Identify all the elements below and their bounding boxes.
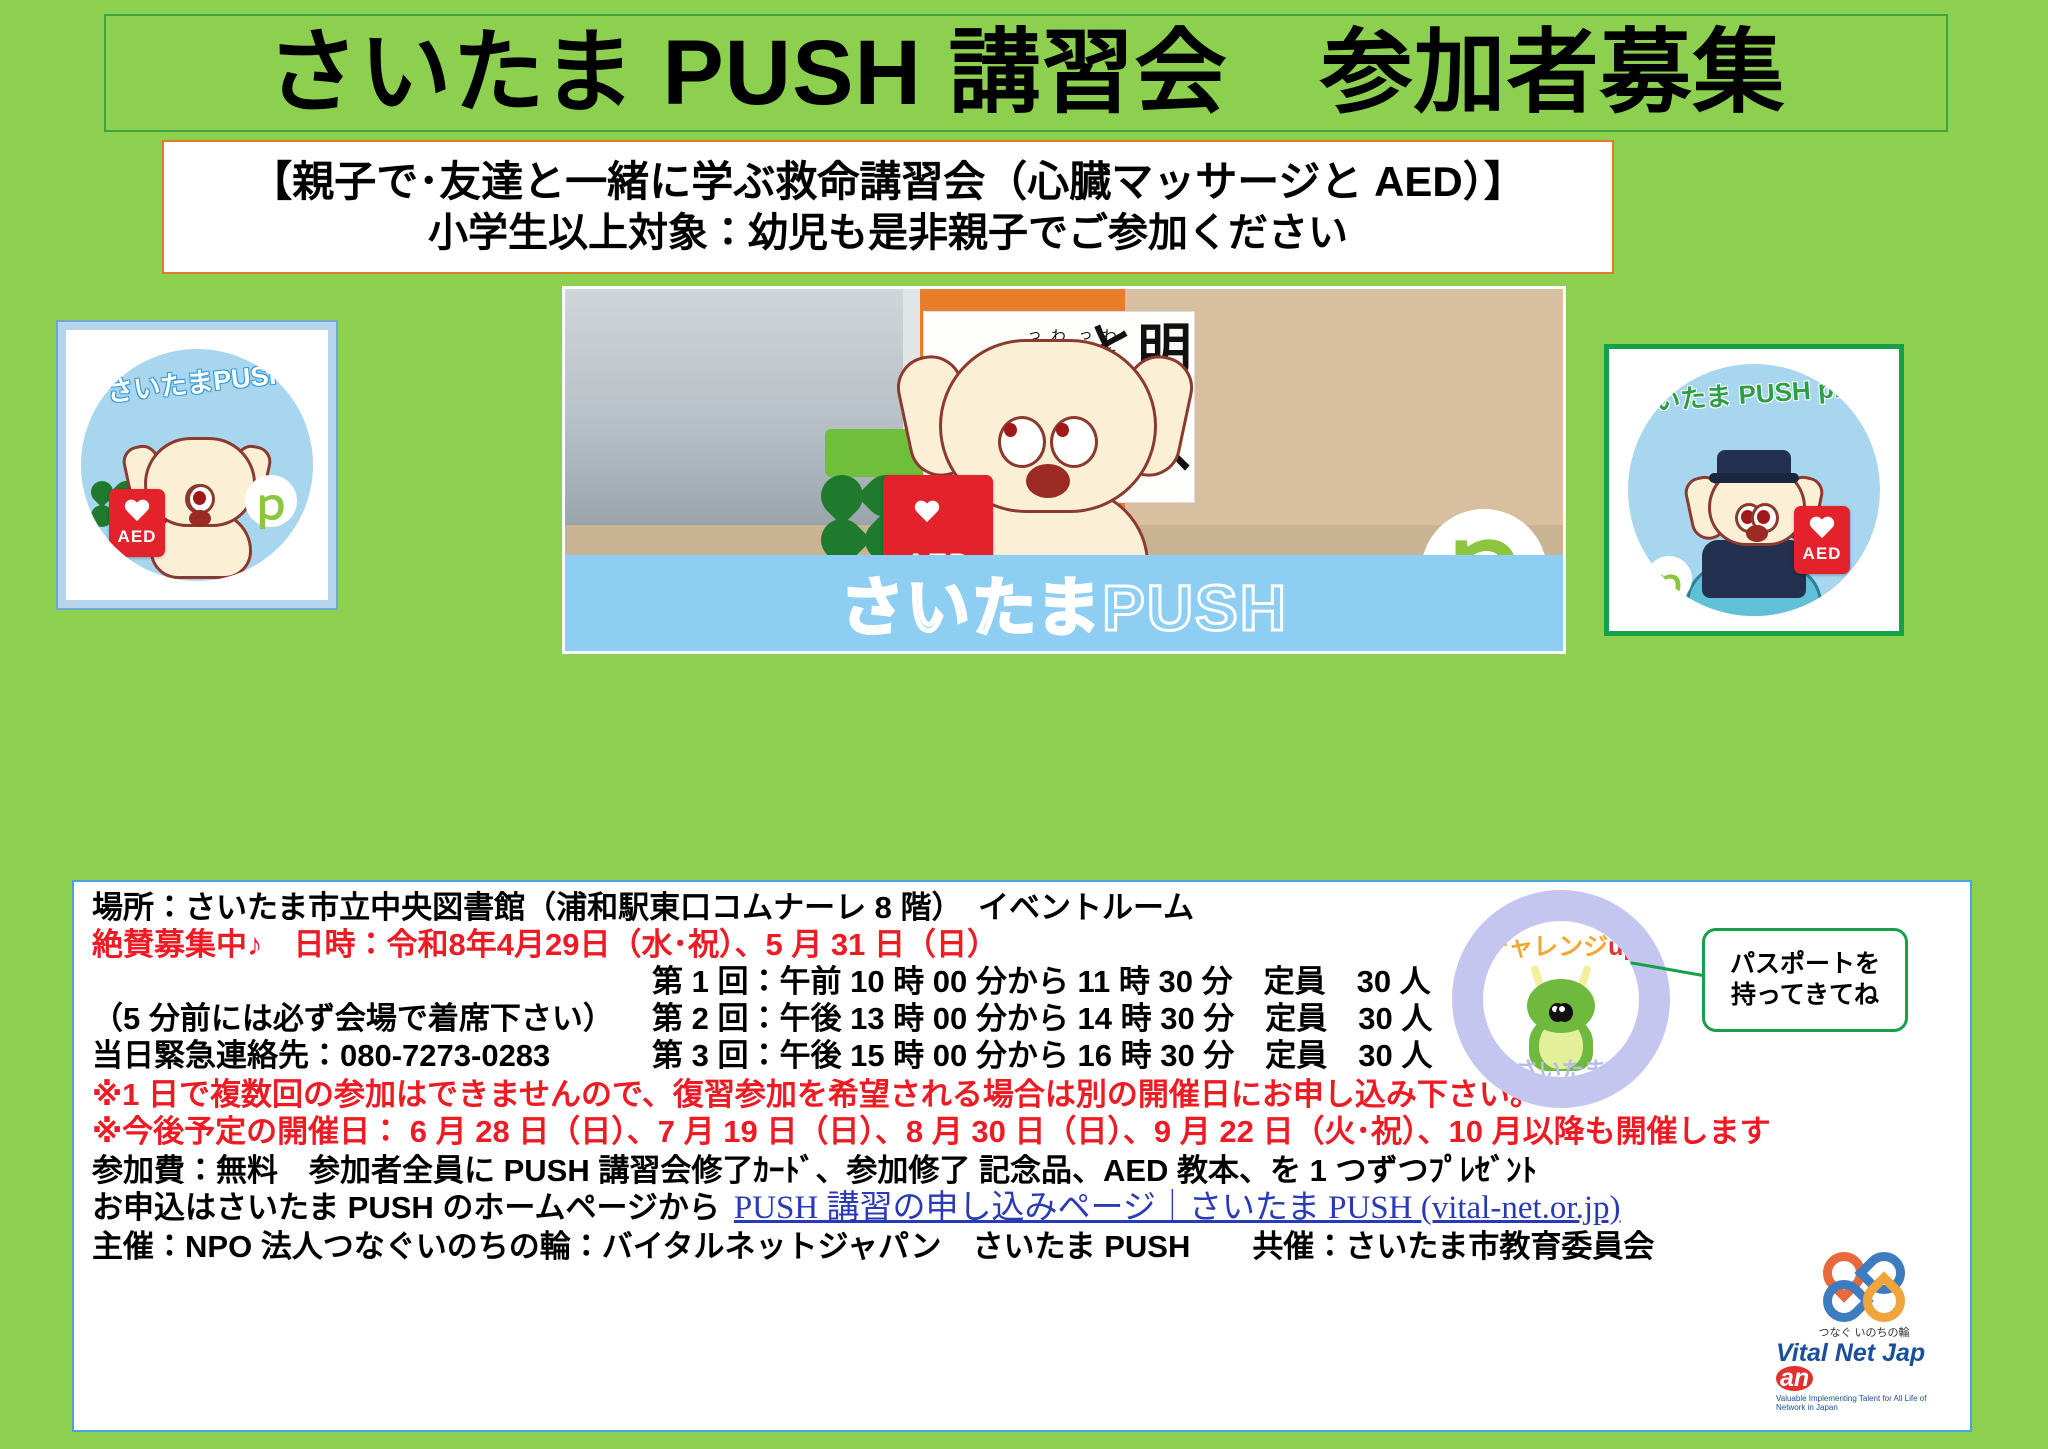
left-logo-arc-label: さいたまPUSH [81, 349, 313, 412]
notice-line-1: ※1 日で複数回の参加はできませんので、復習参加を希望される場合は別の開催日にお… [92, 1079, 1952, 1110]
p-mark-letter: ｐ [1650, 552, 1688, 607]
apply-link[interactable]: PUSH 講習の申し込みページ｜さいたま PUSH (vital-net.or.… [734, 1190, 1621, 1226]
info-panel: 場所：さいたま市立中央図書館（浦和駅東口コムナーレ 8 階） イベントルーム 絶… [72, 880, 1972, 1432]
p-mark-letter: ｐ [250, 471, 292, 532]
center-event-photo: 明日へと進む わたしはあなたと いっしょに歩んでいます わたしはみなたと いっし… [562, 286, 1566, 654]
fee-line: 参加費：無料 参加者全員に PUSH 講習会修了ｶｰﾄﾞ、参加修了 記念品、AE… [92, 1155, 1952, 1186]
subtitle-line-1: 【親子で･友達と一緒に学ぶ救命講習会（心臓マッサージと AED）】 [250, 158, 1526, 206]
organizer-line: 主催：NPO 法人つなぐいのちの輪：バイタルネットジャパン さいたま PUSH … [92, 1231, 1952, 1262]
challenge-up-badge: チャレンジup さいたま [1452, 890, 1670, 1108]
p-mark-icon: ｐ [245, 475, 297, 527]
right-logo-circle: さいたま PUSH project AED [1628, 364, 1880, 616]
dragon-badge-inner: チャレンジup さいたま [1483, 921, 1639, 1077]
subtitle-box: 【親子で･友達と一緒に学ぶ救命講習会（心臓マッサージと AED）】 小学生以上対… [162, 140, 1614, 274]
saitama-push-logo-left: さいたまPUSH AED ｐ [56, 320, 338, 610]
photo-banner: さいたまPUSH [565, 555, 1563, 651]
poster-root: さいたま PUSH 講習会 参加者募集 【親子で･友達と一緒に学ぶ救命講習会（心… [0, 0, 2048, 1449]
session-row-2: （5 分前には必ず会場で着席下さい） 第 2 回：午後 13 時 00 分から … [92, 1003, 1952, 1034]
badge-top-text: チャレンジ [1483, 933, 1608, 961]
badge-bottom-label: さいたま [1483, 1051, 1639, 1077]
aed-label: AED [1803, 544, 1842, 564]
photo-banner-label: さいたまPUSH [840, 557, 1288, 649]
badge-up-text: up [1608, 933, 1639, 961]
callout-line-2: 持ってきてね [1731, 980, 1879, 1011]
vital-tagline: つなぐ いのちの輪 [1818, 1324, 1909, 1340]
callout-line-1: パスポートを [1730, 949, 1880, 980]
left-logo-inner: さいたまPUSH AED ｐ [66, 330, 328, 600]
page-title: さいたま PUSH 講習会 参加者募集 [267, 27, 1786, 119]
passport-callout: パスポートを 持ってきてね [1702, 928, 1908, 1032]
emergency-contact: 当日緊急連絡先：080-7273-0283 [92, 1040, 652, 1071]
subtitle-line-2: 小学生以上対象：幼児も是非親子でご参加ください [428, 206, 1348, 260]
vital-name: Vital Net Japan [1776, 1341, 1952, 1391]
vital-name-accent: an [1776, 1366, 1813, 1391]
vital-subtext: Valuable Implementing Talent for All Lif… [1776, 1394, 1952, 1412]
aed-icon: AED [109, 489, 165, 557]
badge-top-label: チャレンジup [1483, 927, 1639, 963]
saitama-push-project-logo-right: さいたま PUSH project AED [1604, 344, 1904, 636]
session-row-3: 当日緊急連絡先：080-7273-0283 第 3 回：午後 15 時 00 分… [92, 1040, 1952, 1071]
apply-line: お申込はさいたま PUSH のホームページからPUSH 講習の申し込みページ｜さ… [92, 1192, 1952, 1225]
session-row-1-left [92, 966, 652, 997]
vital-clover-icon [1821, 1252, 1907, 1322]
info-place-line: 場所：さいたま市立中央図書館（浦和駅東口コムナーレ 8 階） イベントルーム [92, 892, 1952, 923]
vital-net-japan-logo: つなぐ いのちの輪 Vital Net Japan Valuable Imple… [1776, 1252, 1952, 1418]
session-3-text: 第 3 回：午後 15 時 00 分から 16 時 30 分 定員 30 人 [652, 1040, 1952, 1071]
apply-prefix: お申込はさいたま PUSH のホームページから [92, 1190, 720, 1225]
right-logo-inner: さいたま PUSH project AED [1615, 355, 1893, 625]
aed-icon: AED [1794, 506, 1850, 574]
right-logo-arc-label: さいたま PUSH project [1628, 365, 1880, 419]
notice-line-2: ※今後予定の開催日： 6 月 28 日（日）、7 月 19 日（日）、8 月 3… [92, 1116, 1952, 1147]
info-recruiting-line: 絶賛募集中♪ 日時：令和8年4月29日（水･祝）、5 月 31 日（日） [92, 929, 1952, 960]
police-hat-icon [1717, 450, 1791, 476]
poster-title-box: さいたま PUSH 講習会 参加者募集 [104, 14, 1948, 132]
p-mark-icon: ｐ [1646, 556, 1692, 602]
aed-label: AED [118, 527, 157, 547]
seating-note: （5 分前には必ず会場で着席下さい） [92, 1003, 652, 1034]
vital-name-main: Vital Net Jap [1776, 1339, 1925, 1367]
left-logo-circle: さいたまPUSH AED ｐ [81, 349, 313, 581]
